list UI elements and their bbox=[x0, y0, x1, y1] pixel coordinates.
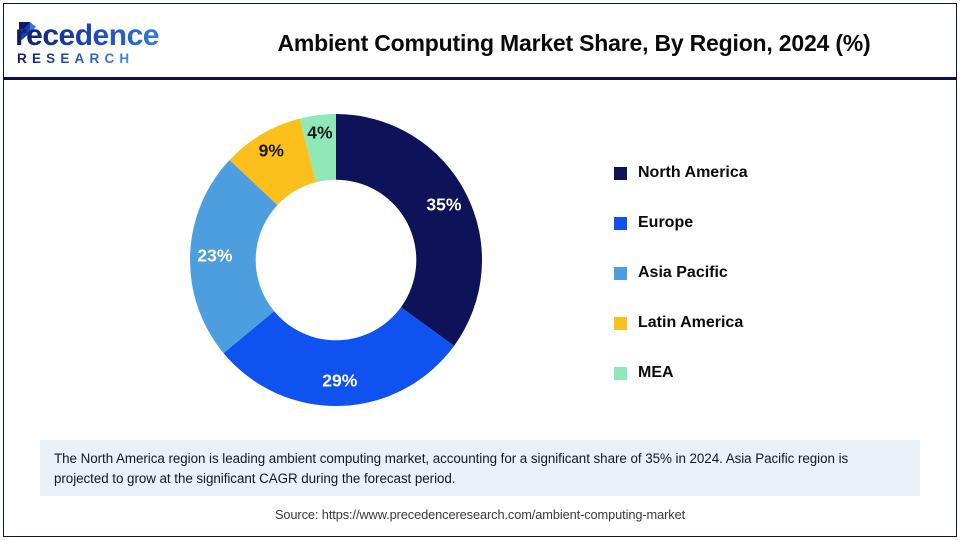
donut-chart: 35%29%23%9%4% bbox=[190, 114, 482, 406]
legend-item-label: MEA bbox=[638, 364, 674, 382]
donut-slice-label: 9% bbox=[259, 140, 284, 161]
legend-swatch-icon bbox=[614, 217, 627, 230]
donut-chart-svg bbox=[190, 114, 482, 406]
donut-slice[interactable] bbox=[336, 114, 482, 346]
header: recedence RESEARCH Ambient Computing Mar… bbox=[4, 4, 956, 78]
legend-item[interactable]: North America bbox=[614, 148, 914, 198]
plot-area: 35%29%23%9%4% North AmericaEuropeAsia Pa… bbox=[4, 80, 956, 432]
legend-item-label: Europe bbox=[638, 214, 693, 232]
donut-slice-label: 29% bbox=[322, 371, 357, 392]
legend-swatch-icon bbox=[614, 267, 627, 280]
donut-slice-label: 4% bbox=[307, 123, 332, 144]
logo-subtitle: RESEARCH bbox=[17, 51, 134, 66]
legend: North AmericaEuropeAsia PacificLatin Ame… bbox=[614, 148, 914, 398]
legend-item[interactable]: Latin America bbox=[614, 298, 914, 348]
legend-item-label: Latin America bbox=[638, 314, 743, 332]
legend-item-label: North America bbox=[638, 164, 748, 182]
legend-item[interactable]: Europe bbox=[614, 198, 914, 248]
legend-item[interactable]: Asia Pacific bbox=[614, 248, 914, 298]
donut-slice-label: 35% bbox=[426, 194, 461, 215]
legend-swatch-icon bbox=[614, 167, 627, 180]
legend-item[interactable]: MEA bbox=[614, 348, 914, 398]
insight-note-text: The North America region is leading ambi… bbox=[54, 449, 906, 488]
source-caption: Source: https://www.precedenceresearch.c… bbox=[0, 507, 960, 522]
donut-slice-label: 23% bbox=[197, 246, 232, 267]
chart-card: recedence RESEARCH Ambient Computing Mar… bbox=[0, 0, 960, 540]
legend-swatch-icon bbox=[614, 317, 627, 330]
precedence-research-logo: recedence RESEARCH bbox=[15, 20, 175, 68]
legend-item-label: Asia Pacific bbox=[638, 264, 728, 282]
insight-note: The North America region is leading ambi… bbox=[40, 440, 920, 496]
logo-wordmark: recedence bbox=[15, 20, 159, 52]
legend-swatch-icon bbox=[614, 367, 627, 380]
donut-slices bbox=[190, 114, 482, 406]
page-title: Ambient Computing Market Share, By Regio… bbox=[194, 4, 954, 82]
